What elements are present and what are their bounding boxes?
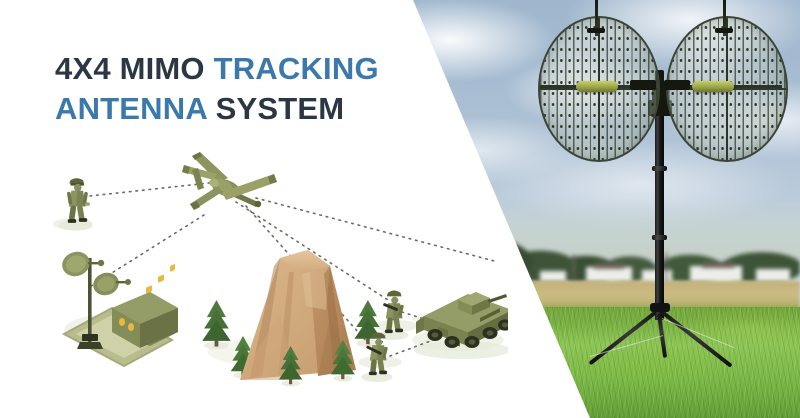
mast-collar xyxy=(652,166,667,171)
guy-wire-left xyxy=(590,335,663,357)
guy-wire-right xyxy=(662,318,735,348)
soldier-left xyxy=(59,178,93,231)
title-part-system: SYSTEM xyxy=(216,91,345,126)
title-part-antenna: ANTENNA xyxy=(55,91,216,126)
dish-mount-left xyxy=(587,28,605,33)
dish-arm-right xyxy=(664,80,690,90)
page-title: 4X4 MIMO TRACKING ANTENNA SYSTEM xyxy=(55,49,395,130)
tripod-leg-left xyxy=(589,310,658,365)
mast-collar xyxy=(652,235,667,240)
title-line-2: ANTENNA SYSTEM xyxy=(55,89,395,129)
banner-root: 4X4 MIMO TRACKING ANTENNA SYSTEM xyxy=(0,0,800,418)
feed-horn-left xyxy=(576,81,618,92)
feed-horn-right xyxy=(692,81,734,92)
uav-drone xyxy=(182,152,277,210)
title-part-tracking: TRACKING xyxy=(214,51,379,86)
title-part-mimo: 4X4 MIMO xyxy=(55,51,214,86)
network-diagram-illustration xyxy=(28,140,508,400)
armored-vehicle xyxy=(414,292,508,359)
link-uav-to-vehicle xyxy=(256,198,498,262)
dish-arm-left xyxy=(630,80,656,90)
ground-station xyxy=(59,248,178,366)
tripod-leg-right xyxy=(661,310,733,367)
soldier-right-upper xyxy=(377,290,408,339)
dish-mount-right xyxy=(715,28,733,33)
title-line-1: 4X4 MIMO TRACKING xyxy=(55,49,395,89)
